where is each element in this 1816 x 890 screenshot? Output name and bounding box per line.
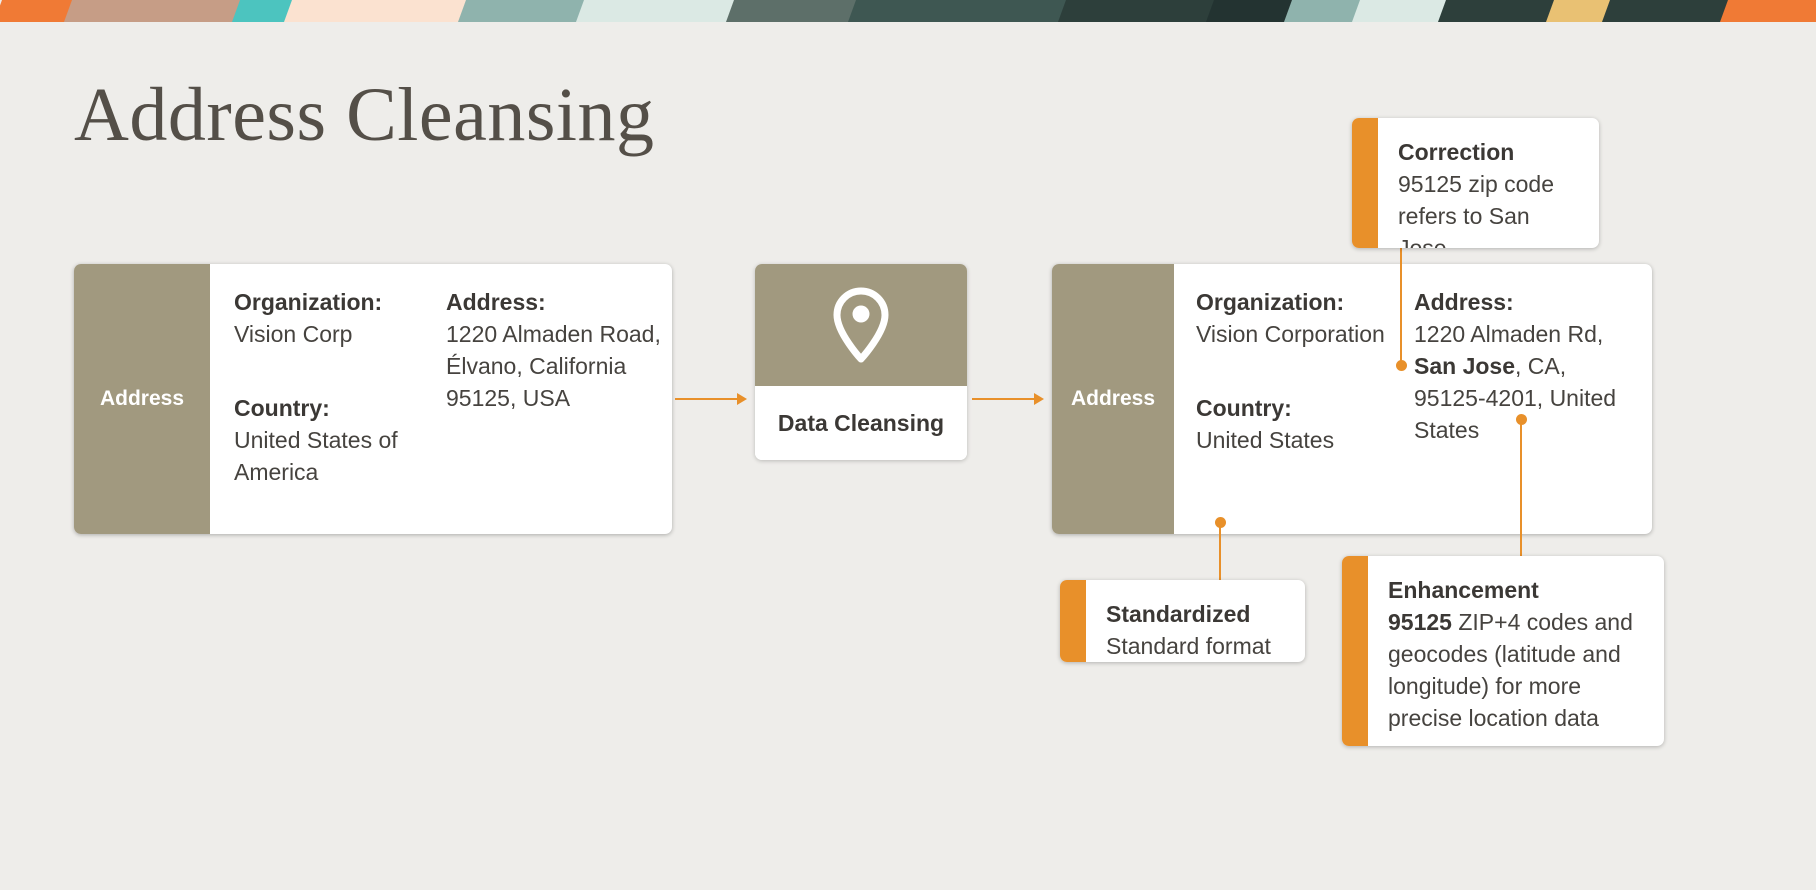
output-organization-label: Organization: (1196, 286, 1404, 318)
process-label: Data Cleansing (755, 386, 967, 460)
enhancement-callout: Enhancement 95125 ZIP+4 codes and geocod… (1342, 556, 1664, 746)
output-card-body: Organization: Vision Corporation Country… (1174, 264, 1652, 534)
enhancement-callout-title: Enhancement (1388, 574, 1646, 606)
output-address-line-1: 1220 Almaden Rd, (1414, 321, 1603, 347)
spacer (234, 350, 436, 392)
callout-accent-bar (1342, 556, 1368, 746)
arrow-head-icon (737, 393, 747, 405)
arrow-head-icon (1034, 393, 1044, 405)
arrow-line (675, 398, 738, 400)
connector-enhancement-line (1520, 418, 1522, 558)
enhancement-callout-text: 95125 ZIP+4 codes and geocodes (latitude… (1388, 606, 1646, 734)
arrow-input-to-process (675, 392, 747, 406)
arrow-process-to-output (972, 392, 1044, 406)
banner-segment-3 (284, 0, 468, 22)
decorative-top-banner (0, 0, 1816, 22)
enhancement-callout-body: Enhancement 95125 ZIP+4 codes and geocod… (1368, 556, 1664, 746)
output-card-tab-label: Address (1052, 264, 1174, 534)
enhancement-zip-highlight: 95125 (1388, 609, 1452, 635)
standardized-callout-body: Standardized Standard format (1086, 580, 1305, 662)
correction-callout: Correction 95125 zip code refers to San … (1352, 118, 1599, 248)
connector-standardized-dot (1215, 517, 1226, 528)
callout-accent-bar (1352, 118, 1378, 248)
input-card-tab-label: Address (74, 264, 210, 534)
output-organization-value: Vision Corporation (1196, 318, 1404, 350)
standardized-callout: Standardized Standard format (1060, 580, 1305, 662)
connector-enhancement-dot (1516, 414, 1527, 425)
spacer (1196, 350, 1404, 392)
page-title: Address Cleansing (74, 72, 655, 158)
banner-segment-6 (726, 0, 858, 22)
output-address-card: Address Organization: Vision Corporation… (1052, 264, 1652, 534)
map-pin-icon (830, 286, 892, 364)
correction-callout-text: 95125 zip code refers to San Jose (1398, 168, 1581, 248)
banner-segment-4 (458, 0, 586, 22)
banner-segment-9 (1206, 0, 1294, 22)
banner-segment-5 (576, 0, 736, 22)
banner-segment-0 (0, 0, 74, 22)
banner-segment-15 (1720, 0, 1816, 22)
output-country-value: United States (1196, 424, 1404, 456)
banner-segment-7 (848, 0, 1068, 22)
banner-segment-10 (1284, 0, 1362, 22)
output-address-city-highlight: San Jose (1414, 353, 1515, 379)
input-organization-value: Vision Corp (234, 318, 436, 350)
input-address-value: 1220 Almaden Road, Élvano, California 95… (446, 318, 666, 414)
input-address-label: Address: (446, 286, 666, 318)
input-address-column: Address: 1220 Almaden Road, Élvano, Cali… (446, 286, 672, 534)
banner-segment-11 (1352, 0, 1448, 22)
output-country-label: Country: (1196, 392, 1404, 424)
correction-callout-title: Correction (1398, 136, 1581, 168)
banner-segment-8 (1058, 0, 1216, 22)
input-country-label: Country: (234, 392, 436, 424)
banner-segment-14 (1602, 0, 1730, 22)
input-address-card: Address Organization: Vision Corp Countr… (74, 264, 672, 534)
output-address-column: Address: 1220 Almaden Rd, San Jose, CA, … (1414, 286, 1636, 534)
standardized-callout-title: Standardized (1106, 598, 1287, 630)
standardized-callout-text: Standard format (1106, 630, 1287, 662)
banner-strip (0, 0, 1640, 22)
output-address-label: Address: (1414, 286, 1626, 318)
connector-correction-dot (1396, 360, 1407, 371)
connector-standardized-line (1219, 521, 1221, 581)
input-card-body: Organization: Vision Corp Country: Unite… (210, 264, 672, 534)
banner-segment-12 (1438, 0, 1556, 22)
input-organization-label: Organization: (234, 286, 436, 318)
process-icon-area (755, 264, 967, 386)
data-cleansing-process: Data Cleansing (755, 264, 967, 460)
output-organization-column: Organization: Vision Corporation Country… (1196, 286, 1414, 534)
arrow-line (972, 398, 1035, 400)
banner-segment-1 (64, 0, 242, 22)
input-country-value: United States of America (234, 424, 436, 488)
input-organization-column: Organization: Vision Corp Country: Unite… (234, 286, 446, 534)
correction-callout-body: Correction 95125 zip code refers to San … (1378, 118, 1599, 248)
callout-accent-bar (1060, 580, 1086, 662)
